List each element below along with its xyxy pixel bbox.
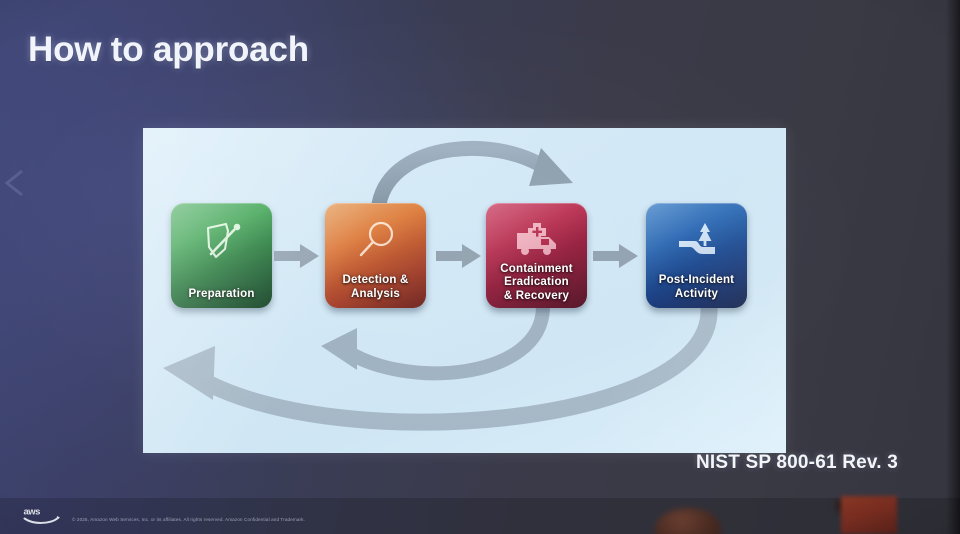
footer-fine-print: © 2025, Amazon Web Services, Inc. or its… [72,517,305,522]
arc-bottom-post-to-prep-icon [163,308,709,422]
arrow-contain-to-post-icon [593,243,639,269]
stage-label-preparation: Preparation [171,288,272,302]
stage-label-containment-eradication-recovery: Containment Eradication & Recovery [486,263,587,304]
stage-label-line1: Post-Incident [659,274,734,286]
aws-logo: aws [22,504,66,526]
page-title: How to approach [28,30,309,70]
arc-bottom-contain-to-detect-icon [321,308,543,373]
stage-label-line2: Activity [675,288,718,300]
arrow-detect-to-contain-icon [436,243,482,269]
presentation-slide: How to approach [0,0,960,534]
stage-label-line2: Eradication [504,276,569,288]
chevron-left-watermark-icon [2,168,28,198]
stage-post-incident-activity[interactable]: Post-Incident Activity [646,203,747,308]
stage-detection-analysis[interactable]: Detection & Analysis [325,203,426,308]
diagram-panel: Preparation Detection & Analysis [143,128,786,453]
stage-label-line2: Analysis [351,288,400,300]
stage-label-line1: Containment [500,263,572,275]
arrow-prep-to-detect-icon [274,243,320,269]
stage-preparation[interactable]: Preparation [171,203,272,308]
stage-containment-eradication-recovery[interactable]: Containment Eradication & Recovery [486,203,587,308]
stage-label-line3: & Recovery [504,290,569,302]
stage-label-line1: Detection & [342,274,408,286]
svg-text:aws: aws [24,507,41,518]
foreground-blur-object [841,496,897,534]
source-caption: NIST SP 800-61 Rev. 3 [696,452,898,474]
screen-right-edge-shadow [946,0,960,534]
slide-footer: aws © 2025, Amazon Web Services, Inc. or… [0,498,960,534]
stage-label-post-incident-activity: Post-Incident Activity [646,274,747,301]
arc-top-detect-to-contain-icon [379,148,573,204]
stage-label-detection-analysis: Detection & Analysis [325,274,426,301]
